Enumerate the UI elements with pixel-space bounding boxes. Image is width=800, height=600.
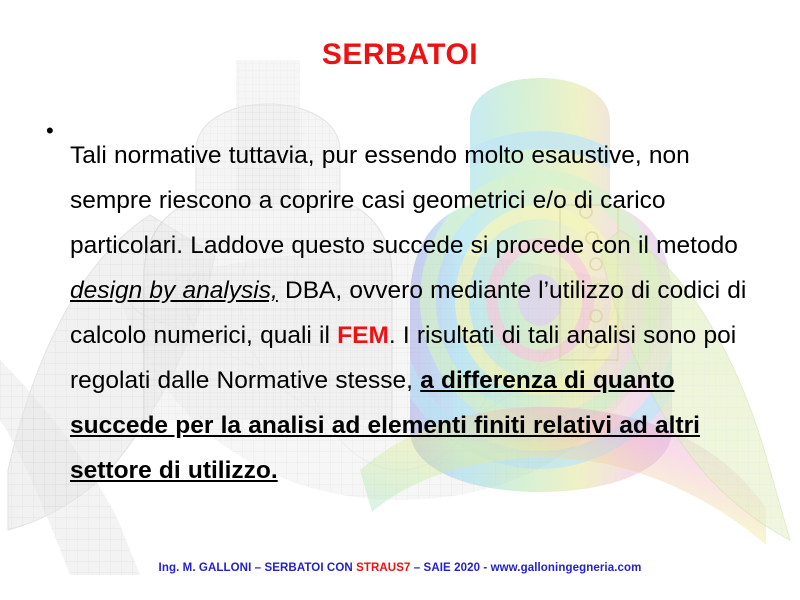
footer-part-1: Ing. M. GALLONI – SERBATOI CON <box>159 562 357 574</box>
bullet-list-item: • Tali normative tuttavia, pur essendo m… <box>44 108 760 517</box>
footer-part-2: – SAIE 2020 - www.galloningegneria.com <box>410 562 641 574</box>
text-segment-normal-1: Tali normative tuttavia, pur essendo mol… <box>70 142 738 259</box>
slide-canvas: SERBATOI • Tali normative tuttavia, pur … <box>0 0 800 600</box>
body-text-block: • Tali normative tuttavia, pur essendo m… <box>44 108 760 517</box>
text-segment-fem: FEM <box>337 322 389 349</box>
slide-footer: Ing. M. GALLONI – SERBATOI CON STRAUS7 –… <box>0 562 800 574</box>
text-segment-design-by-analysis: design by analysis, <box>70 277 278 304</box>
bullet-marker-icon: • <box>44 108 70 153</box>
footer-straus7: STRAUS7 <box>356 562 410 574</box>
paragraph-text: Tali normative tuttavia, pur essendo mol… <box>70 133 760 493</box>
page-title: SERBATOI <box>0 38 800 72</box>
